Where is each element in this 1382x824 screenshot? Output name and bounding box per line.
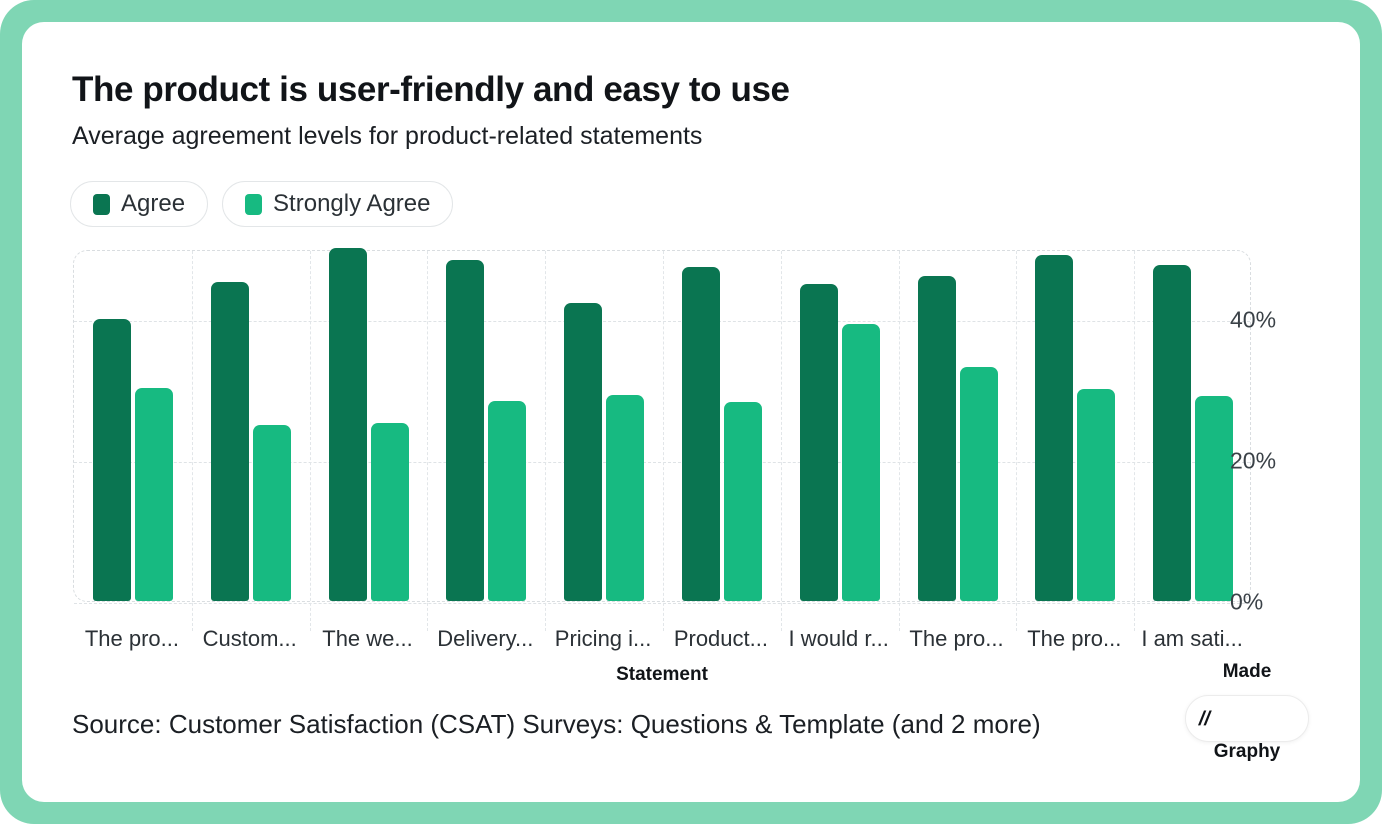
category-separator xyxy=(1134,251,1135,631)
bar-agree[interactable] xyxy=(918,276,956,601)
bar-strongly-agree[interactable] xyxy=(1077,389,1115,601)
legend-item-label: Strongly Agree xyxy=(273,190,430,218)
bar-agree[interactable] xyxy=(93,319,131,601)
category-separator xyxy=(192,251,193,631)
y-axis-tick-label: 40% xyxy=(1230,307,1276,334)
category-separator xyxy=(1016,251,1017,631)
bar-agree[interactable] xyxy=(1035,255,1073,601)
y-axis-tick-label: 20% xyxy=(1230,448,1276,475)
x-axis-title: Statement xyxy=(73,664,1251,686)
watermark-line: Made xyxy=(1185,652,1309,692)
category-separator xyxy=(899,251,900,631)
bar-strongly-agree[interactable] xyxy=(724,402,762,601)
plot-area xyxy=(73,250,1251,602)
bar-agree[interactable] xyxy=(446,260,484,601)
y-gridline xyxy=(74,603,1250,604)
legend-item-strongly-agree[interactable]: Strongly Agree xyxy=(222,181,453,227)
bar-strongly-agree[interactable] xyxy=(960,367,998,601)
chart-frame: The product is user-friendly and easy to… xyxy=(0,0,1382,824)
x-axis-tick-label: Custom... xyxy=(203,626,297,652)
y-axis-tick-label: 0% xyxy=(1230,589,1263,616)
page-title: The product is user-friendly and easy to… xyxy=(72,70,790,110)
bar-strongly-agree[interactable] xyxy=(253,425,291,601)
x-axis-tick-label: The pro... xyxy=(1027,626,1121,652)
x-axis-tick-label: Product... xyxy=(674,626,768,652)
x-axis-tick-label: Pricing i... xyxy=(555,626,652,652)
category-separator xyxy=(663,251,664,631)
legend-swatch-icon xyxy=(93,194,110,215)
x-axis-tick-label: The pro... xyxy=(85,626,179,652)
chart-card: The product is user-friendly and easy to… xyxy=(22,22,1360,802)
bar-agree[interactable] xyxy=(682,267,720,601)
y-gridline xyxy=(74,462,1250,463)
x-axis-tick-label: I would r... xyxy=(789,626,889,652)
bar-agree[interactable] xyxy=(329,248,367,601)
page-subtitle: Average agreement levels for product-rel… xyxy=(72,122,702,151)
bar-agree[interactable] xyxy=(211,282,249,601)
bar-strongly-agree[interactable] xyxy=(606,395,644,601)
legend-item-agree[interactable]: Agree xyxy=(70,181,208,227)
bar-strongly-agree[interactable] xyxy=(135,388,173,601)
bar-strongly-agree[interactable] xyxy=(488,401,526,601)
x-axis-tick-label: I am sati... xyxy=(1141,626,1242,652)
source-note: Source: Customer Satisfaction (CSAT) Sur… xyxy=(72,709,1041,740)
category-separator xyxy=(781,251,782,631)
bar-agree[interactable] xyxy=(800,284,838,602)
bar-strongly-agree[interactable] xyxy=(371,423,409,601)
x-axis-tick-label: The we... xyxy=(322,626,412,652)
legend-item-label: Agree xyxy=(121,190,185,218)
category-separator xyxy=(545,251,546,631)
legend-swatch-icon xyxy=(245,194,262,215)
bar-strongly-agree[interactable] xyxy=(842,324,880,601)
y-gridline xyxy=(74,321,1250,322)
chart-legend: AgreeStrongly Agree xyxy=(70,181,453,227)
bar-agree[interactable] xyxy=(564,303,602,601)
category-separator xyxy=(310,251,311,631)
category-separator xyxy=(427,251,428,631)
x-axis-tick-label: Delivery... xyxy=(437,626,533,652)
bar-agree[interactable] xyxy=(1153,265,1191,602)
bar-strongly-agree[interactable] xyxy=(1195,396,1233,601)
x-axis-tick-label: The pro... xyxy=(909,626,1003,652)
